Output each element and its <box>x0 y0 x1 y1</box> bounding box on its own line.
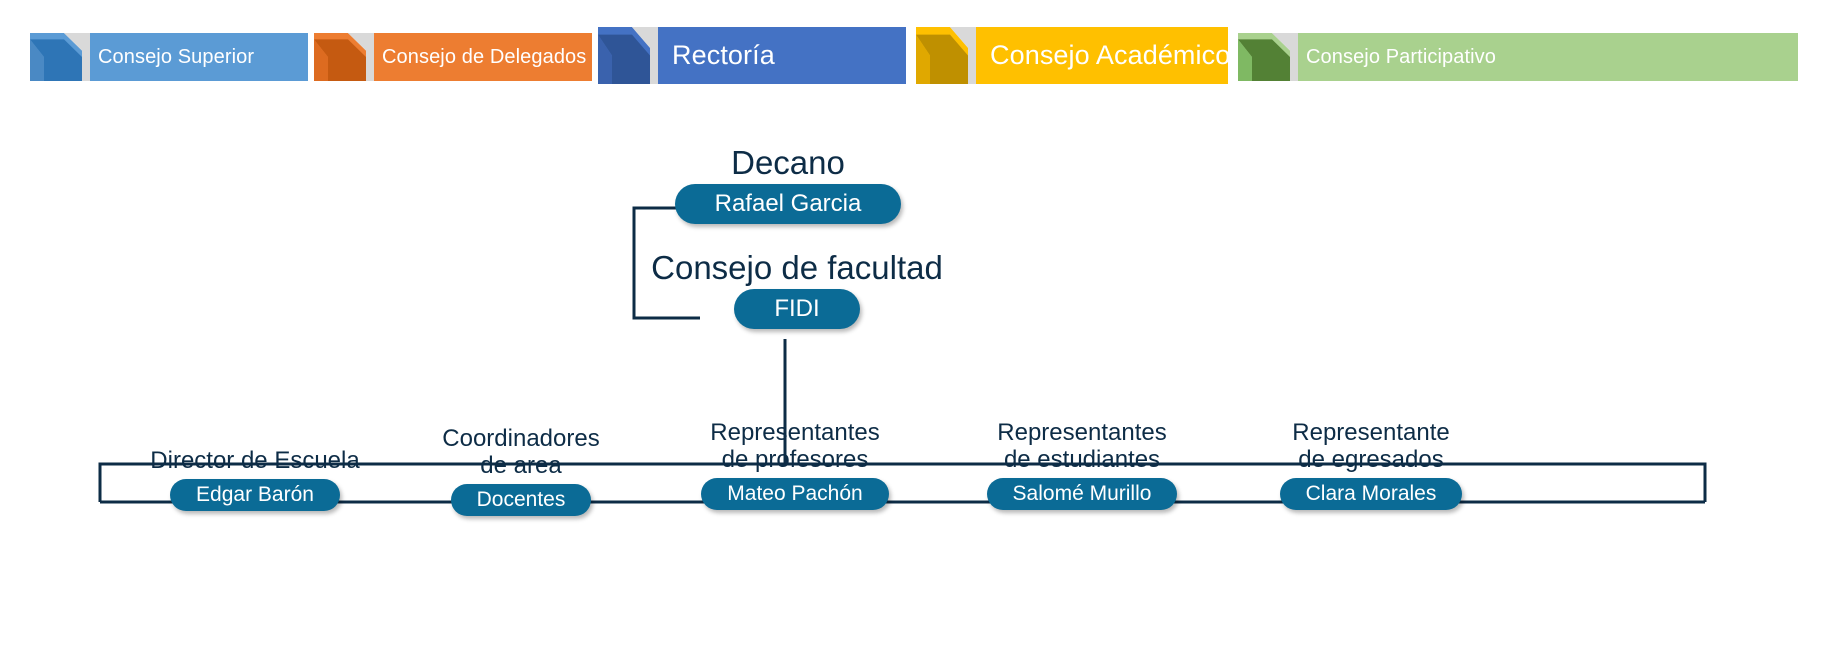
org-node-person-pill[interactable]: Rafael Garcia <box>675 184 902 224</box>
org-node-person-pill[interactable]: FIDI <box>734 289 859 329</box>
org-chart: DecanoRafael GarciaConsejo de facultadFI… <box>0 0 1828 654</box>
org-node-consejo-facultad[interactable]: Consejo de facultadFIDI <box>497 250 1097 329</box>
org-node-pill-wrap: Rafael Garcia <box>488 184 1088 224</box>
org-node-pill-wrap: Clara Morales <box>1071 474 1671 510</box>
org-node-title: Representante de egresados <box>1071 420 1671 474</box>
org-node-representante-egresados[interactable]: Representante de egresadosClara Morales <box>1071 420 1671 510</box>
org-node-decano[interactable]: DecanoRafael Garcia <box>488 145 1088 224</box>
org-node-title: Decano <box>488 145 1088 182</box>
org-node-pill-wrap: FIDI <box>497 289 1097 329</box>
org-node-title: Consejo de facultad <box>497 250 1097 287</box>
org-node-person-pill[interactable]: Clara Morales <box>1280 478 1463 510</box>
